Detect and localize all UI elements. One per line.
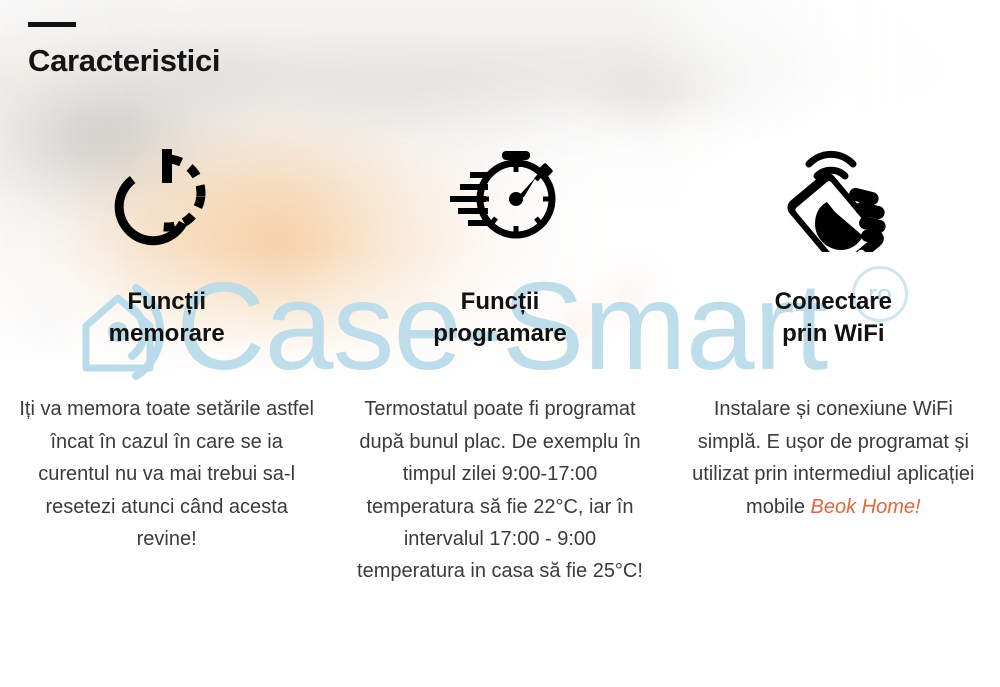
stopwatch-timer-icon — [438, 128, 562, 258]
feature-body: Termostatul poate fi programat după bunu… — [350, 393, 650, 587]
feature-column-memorare: Funcții memorare Iți va memora toate set… — [0, 128, 333, 588]
title-rule — [28, 22, 76, 27]
features-page: Case-Smart ro Caracteristici Funcții mem… — [0, 0, 1000, 687]
feature-title: Funcții memorare — [109, 286, 225, 349]
page-title: Caracteristici — [28, 43, 220, 79]
feature-title: Conectare prin WiFi — [775, 286, 892, 349]
power-button-icon — [111, 128, 223, 258]
brand-app-name: Beok Home! — [811, 496, 921, 518]
feature-column-programare: Funcții programare Termostatul poate fi … — [333, 128, 666, 588]
feature-body: Iți va memora toate setările astfel înca… — [17, 393, 317, 555]
feature-column-wifi: Conectare prin WiFi Instalare și conexiu… — [667, 128, 1000, 588]
page-header: Caracteristici — [28, 22, 220, 79]
feature-title: Funcții programare — [433, 286, 566, 349]
features-columns: Funcții memorare Iți va memora toate set… — [0, 128, 1000, 588]
hand-holding-phone-wifi-icon — [775, 128, 891, 258]
feature-body: Instalare și conexiune WiFi simplă. E uș… — [683, 393, 983, 523]
